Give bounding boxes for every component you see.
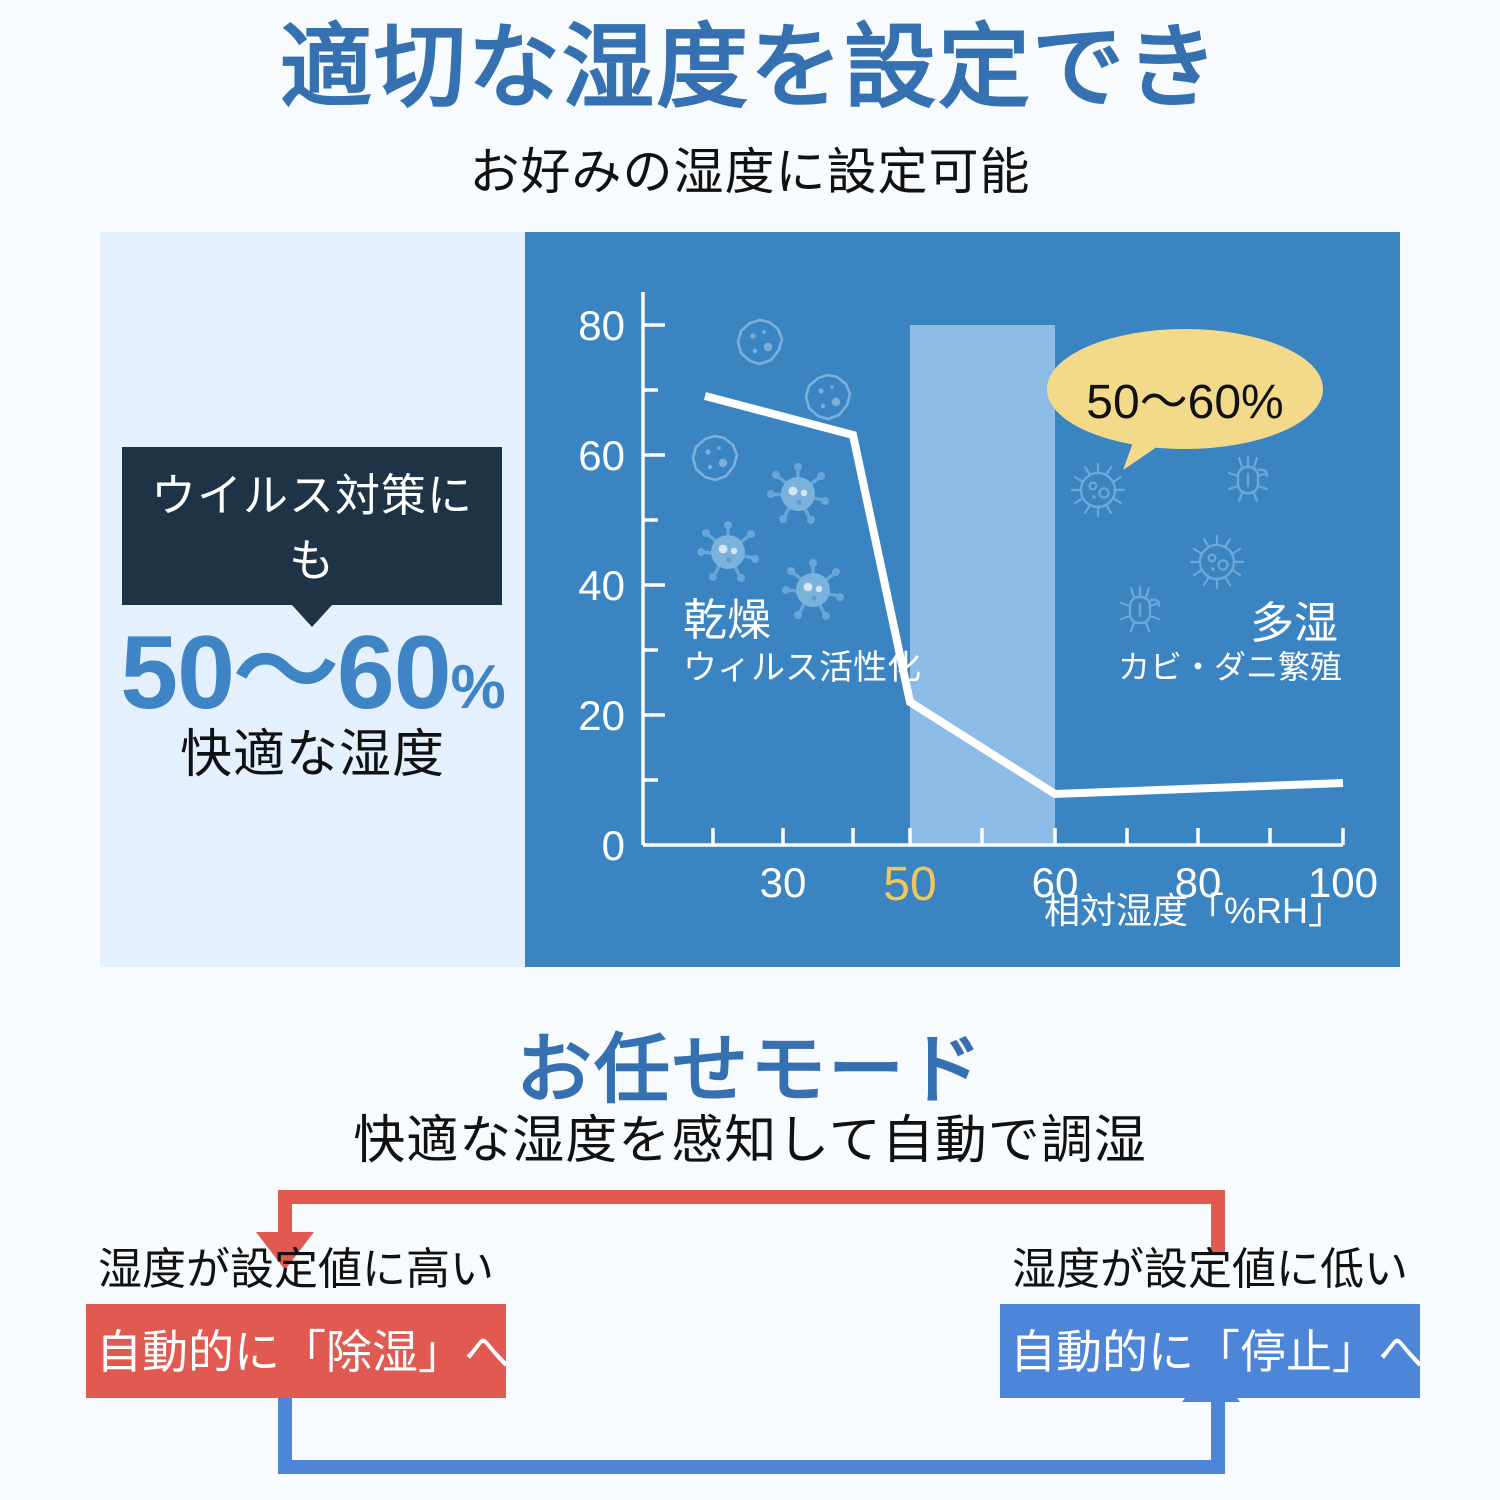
dry-zone-subtitle: ウィルス活性化 xyxy=(683,640,921,689)
microbe-cluster-dry xyxy=(693,320,850,620)
page-subtitle: お好みの湿度に設定可能 xyxy=(0,132,1500,204)
infographic-page: 適切な湿度を設定でき お好みの湿度に設定可能 ウイルス対策にも 50〜60% 快… xyxy=(0,0,1500,1500)
svg-text:80: 80 xyxy=(578,302,625,349)
svg-text:60: 60 xyxy=(578,432,625,479)
virus-badge: ウイルス対策にも xyxy=(122,447,502,605)
left-summary-panel: ウイルス対策にも 50〜60% 快適な湿度 xyxy=(100,232,525,967)
y-axis-labels: 80 60 40 20 0 xyxy=(578,302,625,869)
dry-zone-title: 乾燥 xyxy=(683,584,771,648)
svg-text:30: 30 xyxy=(760,859,807,906)
svg-text:40: 40 xyxy=(578,562,625,609)
wet-zone-subtitle: カビ・ダニ繁殖 xyxy=(1118,642,1342,688)
humidity-chart-panel: 80 60 40 20 0 30 50 60 80 100 xyxy=(525,232,1400,967)
flow-column-low-humidity: 湿度が設定値に低い 自動的に「停止」へ xyxy=(1000,1245,1420,1398)
microbe-cluster-wet xyxy=(1072,457,1267,631)
page-title: 適切な湿度を設定でき xyxy=(0,18,1500,119)
svg-text:50: 50 xyxy=(883,858,936,911)
low-humidity-caption: 湿度が設定値に低い xyxy=(1000,1245,1420,1296)
comfort-range-bubble-label: 50〜60% xyxy=(1070,362,1300,432)
stop-action-box: 自動的に「停止」へ xyxy=(1000,1304,1420,1398)
svg-text:20: 20 xyxy=(578,692,625,739)
dehumidify-action-box: 自動的に「除湿」へ xyxy=(86,1304,506,1398)
comfort-band xyxy=(910,325,1055,845)
flow-column-high-humidity: 湿度が設定値に高い 自動的に「除湿」へ xyxy=(86,1245,506,1398)
auto-mode-subtitle: 快適な湿度を感知して自動で調湿 xyxy=(0,1098,1500,1173)
x-axis-title: 相対湿度「%RH」 xyxy=(1044,882,1344,934)
svg-text:0: 0 xyxy=(602,822,625,869)
high-humidity-caption: 湿度が設定値に高い xyxy=(86,1245,506,1296)
y-axis-ticks xyxy=(643,325,665,780)
comfort-caption: 快適な湿度 xyxy=(100,712,525,787)
